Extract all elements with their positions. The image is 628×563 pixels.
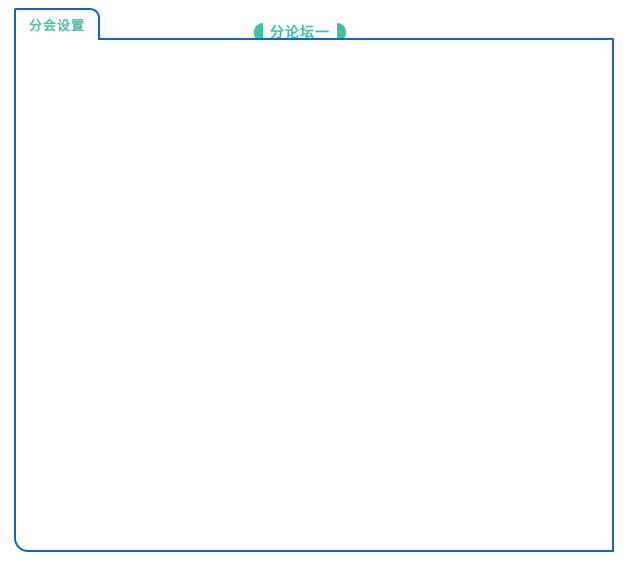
tab-border-mask (17, 36, 97, 41)
subforum-settings-page: 分会设置 分论坛一 材料科学分会：分子模拟与人工智能在材料科学领域的应用 分论坛… (0, 0, 628, 563)
content-panel (14, 38, 614, 552)
tab-label: 分会设置 (29, 19, 85, 32)
